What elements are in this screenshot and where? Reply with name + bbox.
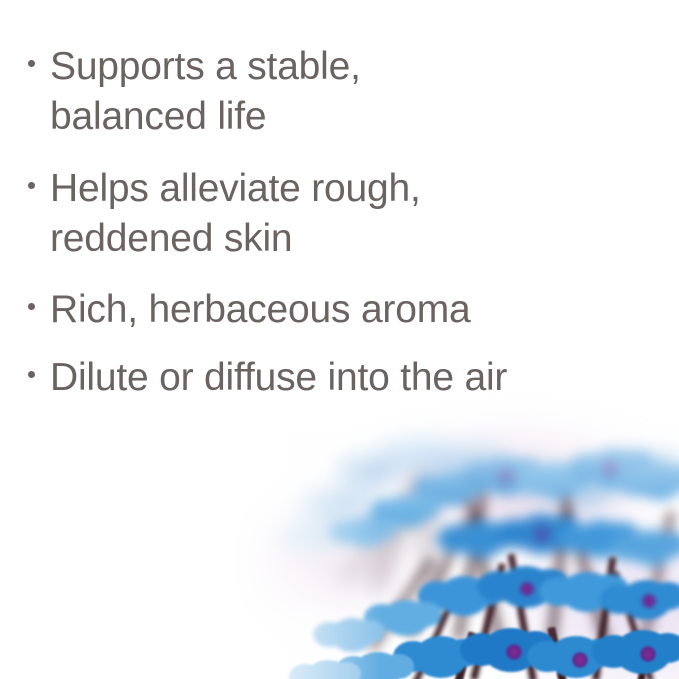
- benefit-text: Supports a stable, balanced life: [50, 42, 361, 142]
- bullet-dot-icon: [28, 60, 35, 67]
- lavender-haze: [199, 379, 679, 679]
- benefit-text: Helps alleviate rough, reddened skin: [50, 164, 421, 264]
- bullet-dot-icon: [28, 371, 35, 378]
- promo-benefits-card: Supports a stable, balanced life Helps a…: [0, 0, 679, 679]
- list-item-herbaceous-aroma: Rich, herbaceous aroma: [28, 285, 471, 335]
- list-item-stable-balanced-life: Supports a stable, balanced life: [28, 42, 361, 142]
- list-item-dilute-or-diffuse: Dilute or diffuse into the air: [28, 353, 507, 403]
- list-item-rough-reddened-skin: Helps alleviate rough, reddened skin: [28, 164, 421, 264]
- bullet-dot-icon: [28, 303, 35, 310]
- bullet-dot-icon: [28, 182, 35, 189]
- benefit-text: Dilute or diffuse into the air: [50, 353, 507, 403]
- benefit-text: Rich, herbaceous aroma: [50, 285, 471, 335]
